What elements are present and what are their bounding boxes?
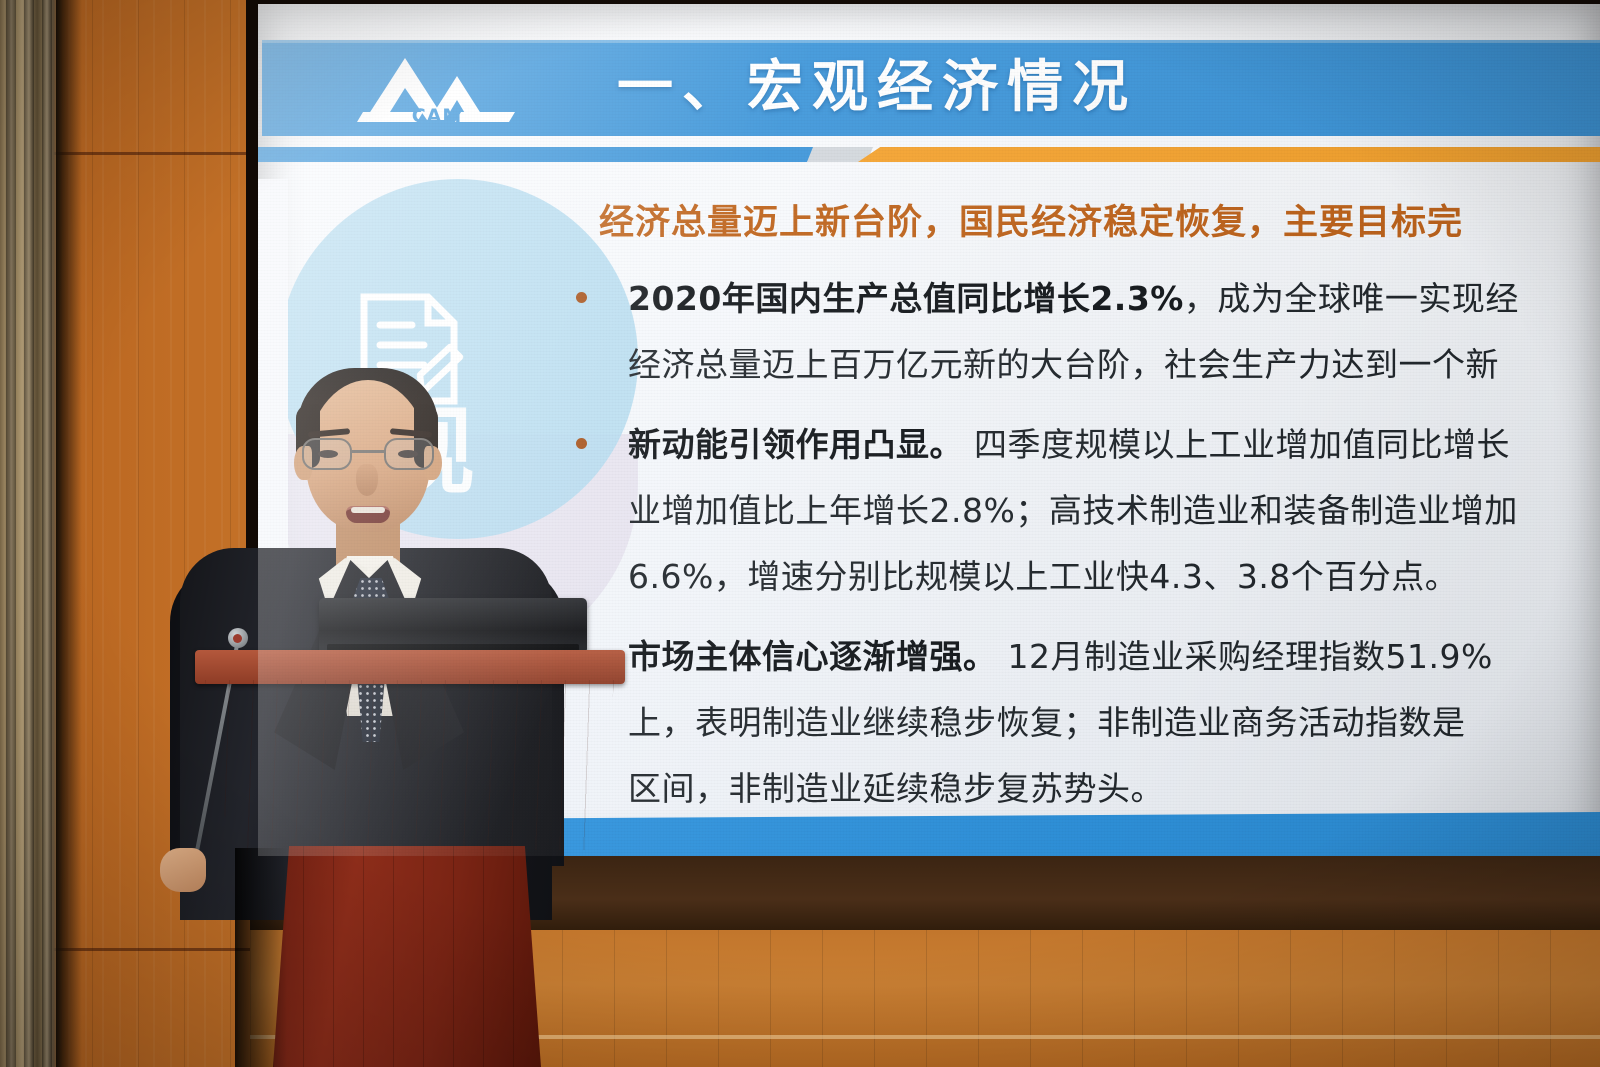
bullet-rest-text: 12月制造业采购经理指数51.9% [997, 637, 1493, 676]
bullet-item: 市场主体信心逐渐增强。 12月制造业采购经理指数51.9% 上，表明制造业继续稳… [558, 624, 1600, 822]
bullet-line: 上，表明制造业继续稳步恢复；非制造业商务活动指数是 [628, 690, 1600, 756]
lens-left [302, 438, 352, 470]
curtain-fold [42, 0, 52, 1067]
nose [356, 464, 378, 496]
bullet-bold-text: 2020年国内生产总值同比增长2.3% [628, 279, 1184, 318]
cam-mountain-logo: CAM [357, 50, 517, 130]
bullet-line: 区间，非制造业延续稳步复苏势头。 [628, 756, 1600, 822]
bullet-rest-text: ，成为全球唯一实现经 [1184, 279, 1519, 318]
bullet-line: 业增加值比上年增长2.8%；高技术制造业和装备制造业增加 [628, 478, 1600, 544]
accent-bar-blue [258, 147, 818, 162]
banner-top-highlight [262, 40, 1600, 43]
podium-wood-grain [205, 680, 615, 850]
lens-right [384, 438, 434, 470]
bullet-line: 新动能引领作用凸显。 四季度规模以上工业增加值同比增长 [628, 412, 1600, 478]
slide-subtitle: 经济总量迈上新台阶，国民经济稳定恢复，主要目标完 [599, 196, 1600, 250]
slide-header-banner: CAM 一、宏观经济情况 [262, 40, 1600, 136]
bullet-item: 新动能引领作用凸显。 四季度规模以上工业增加值同比增长 业增加值比上年增长2.8… [558, 412, 1600, 610]
svg-text:CAM: CAM [412, 105, 463, 127]
curtain-fold [6, 0, 16, 1067]
slide-title: 一、宏观经济情况 [617, 46, 1137, 130]
curtain-fold [24, 0, 34, 1067]
glasses-bridge [352, 450, 386, 453]
bullet-line: 2020年国内生产总值同比增长2.3%，成为全球唯一实现经 [628, 266, 1600, 332]
bullet-line: 经济总量迈上百万亿元新的大台阶，社会生产力达到一个新 [628, 332, 1600, 398]
bullet-line: 6.6%，增速分别比规模以上工业快4.3、3.8个百分点。 [628, 544, 1600, 610]
bullet-rest-text: 四季度规模以上工业增加值同比增长 [963, 425, 1510, 464]
accent-bar-row [258, 145, 1600, 165]
bullet-line: 市场主体信心逐渐增强。 12月制造业采购经理指数51.9% [628, 624, 1600, 690]
bullet-dot-icon [576, 292, 587, 303]
speaker-podium [195, 598, 625, 1067]
accent-bar-orange [858, 147, 1600, 162]
podium-shadow [235, 848, 287, 1067]
presentation-photo: 观 CAM 一、宏观经济情况 经济总量迈上新台阶，国民经济稳定恢复，主要目标完 [0, 0, 1600, 1067]
podium-top-surface [195, 650, 625, 684]
teeth [351, 507, 385, 513]
bullet-item: 2020年国内生产总值同比增长2.3%，成为全球唯一实现经 经济总量迈上百万亿元… [558, 266, 1600, 398]
slide-bullet-list: 2020年国内生产总值同比增长2.3%，成为全球唯一实现经 经济总量迈上百万亿元… [558, 266, 1600, 836]
podium-base-grain [273, 846, 541, 1067]
bullet-bold-text: 新动能引领作用凸显。 [628, 425, 963, 464]
bullet-bold-text: 市场主体信心逐渐增强。 [628, 637, 997, 676]
